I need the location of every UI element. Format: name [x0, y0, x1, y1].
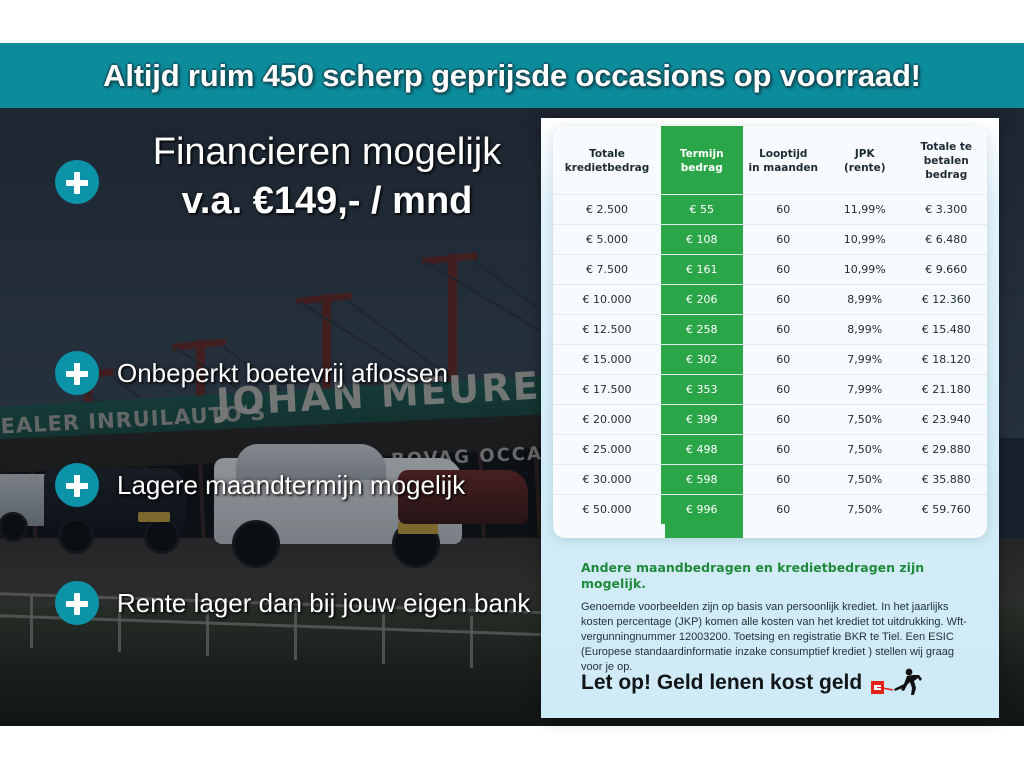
table-cell: € 59.760: [906, 495, 988, 525]
table-cell: 60: [743, 255, 825, 285]
table-cell: € 23.940: [906, 405, 988, 435]
disclaimer-body: Genoemde voorbeelden zijn op basis van p…: [581, 600, 975, 675]
table-row: € 12.500€ 258608,99%€ 15.480: [553, 315, 987, 345]
table-cell: 60: [743, 465, 825, 495]
table-cell: 7,50%: [824, 405, 906, 435]
feature-item-headline-bullet: [55, 160, 99, 204]
table-cell: € 353: [661, 375, 743, 405]
column-header-jpk: JPK(rente): [824, 126, 906, 195]
table-cell: € 12.360: [906, 285, 988, 315]
table-cell: € 15.000: [553, 345, 661, 375]
finance-info-panel: Totalekredietbedrag Termijnbedrag Loopti…: [541, 118, 999, 718]
table-cell: € 12.500: [553, 315, 661, 345]
column-header-looptijd: Looptijdin maanden: [743, 126, 825, 195]
table-cell: € 17.500: [553, 375, 661, 405]
table-header-row: Totalekredietbedrag Termijnbedrag Loopti…: [553, 126, 987, 195]
table-cell: 7,99%: [824, 375, 906, 405]
table-row: € 2.500€ 556011,99%€ 3.300: [553, 195, 987, 225]
table-cell: € 35.880: [906, 465, 988, 495]
plus-icon: [55, 351, 99, 395]
credit-warning-text: Let op! Geld lenen kost geld: [581, 671, 862, 695]
table-cell: 7,50%: [824, 465, 906, 495]
plus-icon: [55, 581, 99, 625]
feature-label: Rente lager dan bij jouw eigen bank: [117, 588, 530, 619]
table-cell: € 5.000: [553, 225, 661, 255]
feature-item-1: Lagere maandtermijn mogelijk: [55, 463, 465, 507]
table-cell: € 2.500: [553, 195, 661, 225]
table-cell: € 21.180: [906, 375, 988, 405]
table-cell: € 29.880: [906, 435, 988, 465]
table-cell: € 399: [661, 405, 743, 435]
table-row: € 50.000€ 996607,50%€ 59.760: [553, 495, 987, 525]
feature-item-0: Onbeperkt boetevrij aflossen: [55, 351, 448, 395]
table-row: € 15.000€ 302607,99%€ 18.120: [553, 345, 987, 375]
feature-list: Onbeperkt boetevrij aflossen Lagere maan…: [0, 108, 545, 726]
table-cell: 7,99%: [824, 345, 906, 375]
table-cell: € 9.660: [906, 255, 988, 285]
table-row: € 30.000€ 598607,50%€ 35.880: [553, 465, 987, 495]
table-cell: € 15.480: [906, 315, 988, 345]
plus-icon: [55, 160, 99, 204]
table-cell: 10,99%: [824, 225, 906, 255]
table-cell: 60: [743, 285, 825, 315]
rate-table-body: € 2.500€ 556011,99%€ 3.300€ 5.000€ 10860…: [553, 195, 987, 525]
table-cell: 8,99%: [824, 285, 906, 315]
table-cell: 10,99%: [824, 255, 906, 285]
column-header-termijn: Termijnbedrag: [661, 126, 743, 195]
table-cell: € 55: [661, 195, 743, 225]
table-cell: € 7.500: [553, 255, 661, 285]
feature-label: Lagere maandtermijn mogelijk: [117, 470, 465, 501]
table-cell: € 206: [661, 285, 743, 315]
disclaimer-title: Andere maandbedragen en kredietbedragen …: [581, 560, 975, 592]
table-cell: € 25.000: [553, 435, 661, 465]
plus-icon: [55, 463, 99, 507]
table-cell: 60: [743, 225, 825, 255]
table-cell: € 20.000: [553, 405, 661, 435]
table-cell: € 6.480: [906, 225, 988, 255]
banner-headline: Altijd ruim 450 scherp geprijsde occasio…: [103, 58, 921, 94]
table-cell: € 161: [661, 255, 743, 285]
table-cell: 60: [743, 195, 825, 225]
table-cell: 7,50%: [824, 435, 906, 465]
table-cell: 60: [743, 405, 825, 435]
feature-item-2: Rente lager dan bij jouw eigen bank: [55, 581, 530, 625]
table-cell: € 302: [661, 345, 743, 375]
table-row: € 20.000€ 399607,50%€ 23.940: [553, 405, 987, 435]
column-header-krediet: Totalekredietbedrag: [553, 126, 661, 195]
table-row: € 10.000€ 206608,99%€ 12.360: [553, 285, 987, 315]
rate-table-card: Totalekredietbedrag Termijnbedrag Loopti…: [553, 126, 987, 538]
column-header-totaal: Totale tebetalen bedrag: [906, 126, 988, 195]
table-cell: 60: [743, 375, 825, 405]
table-cell: € 498: [661, 435, 743, 465]
table-row: € 7.500€ 1616010,99%€ 9.660: [553, 255, 987, 285]
table-cell: € 598: [661, 465, 743, 495]
table-cell: 60: [743, 345, 825, 375]
table-cell: 11,99%: [824, 195, 906, 225]
table-cell: € 50.000: [553, 495, 661, 525]
table-cell: € 30.000: [553, 465, 661, 495]
table-cell: € 996: [661, 495, 743, 525]
table-cell: € 18.120: [906, 345, 988, 375]
table-cell: 7,50%: [824, 495, 906, 525]
feature-label: Onbeperkt boetevrij aflossen: [117, 358, 448, 389]
table-cell: € 10.000: [553, 285, 661, 315]
advertisement-canvas: Altijd ruim 450 scherp geprijsde occasio…: [0, 0, 1024, 768]
table-cell: 60: [743, 315, 825, 345]
disclaimer-block: Andere maandbedragen en kredietbedragen …: [581, 560, 975, 675]
table-cell: 60: [743, 435, 825, 465]
top-banner: Altijd ruim 450 scherp geprijsde occasio…: [0, 43, 1024, 108]
table-cell: € 108: [661, 225, 743, 255]
table-row: € 5.000€ 1086010,99%€ 6.480: [553, 225, 987, 255]
table-row: € 17.500€ 353607,99%€ 21.180: [553, 375, 987, 405]
table-cell: 8,99%: [824, 315, 906, 345]
credit-warning: Let op! Geld lenen kost geld: [581, 668, 923, 698]
table-row: € 25.000€ 498607,50%€ 29.880: [553, 435, 987, 465]
running-man-with-money-block-icon: [871, 668, 923, 698]
rate-table: Totalekredietbedrag Termijnbedrag Loopti…: [553, 126, 987, 524]
table-cell: 60: [743, 495, 825, 525]
table-cell: € 3.300: [906, 195, 988, 225]
table-cell: € 258: [661, 315, 743, 345]
